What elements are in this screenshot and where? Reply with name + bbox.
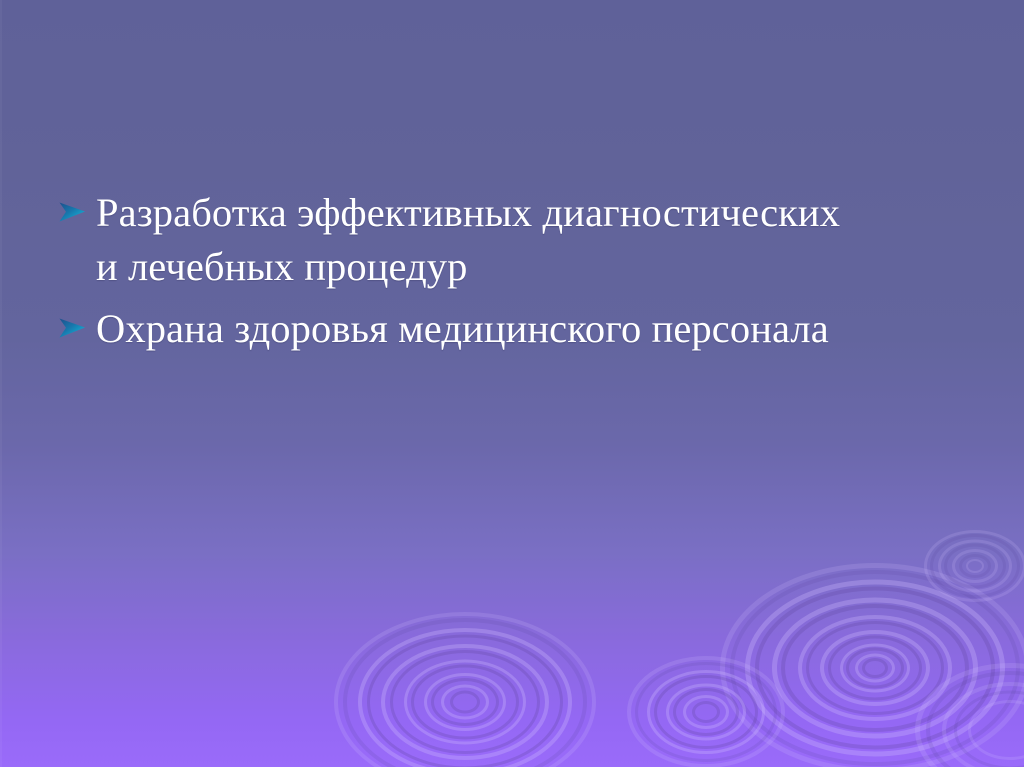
list-item: Охрана здоровья медицинского персонала: [58, 302, 958, 356]
arrowhead-bullet-icon: [58, 186, 96, 224]
ripple-decoration-layer: [0, 0, 1024, 767]
list-item-label: Охрана здоровья медицинского персонала: [96, 302, 958, 356]
slide-body-text: Разработка эффективных диагностических и…: [58, 186, 958, 364]
list-item-label: Разработка эффективных диагностических и…: [96, 186, 958, 294]
list-item: Разработка эффективных диагностических и…: [58, 186, 958, 294]
presentation-slide: Разработка эффективных диагностических и…: [0, 0, 1024, 767]
arrowhead-bullet-icon: [58, 302, 96, 340]
